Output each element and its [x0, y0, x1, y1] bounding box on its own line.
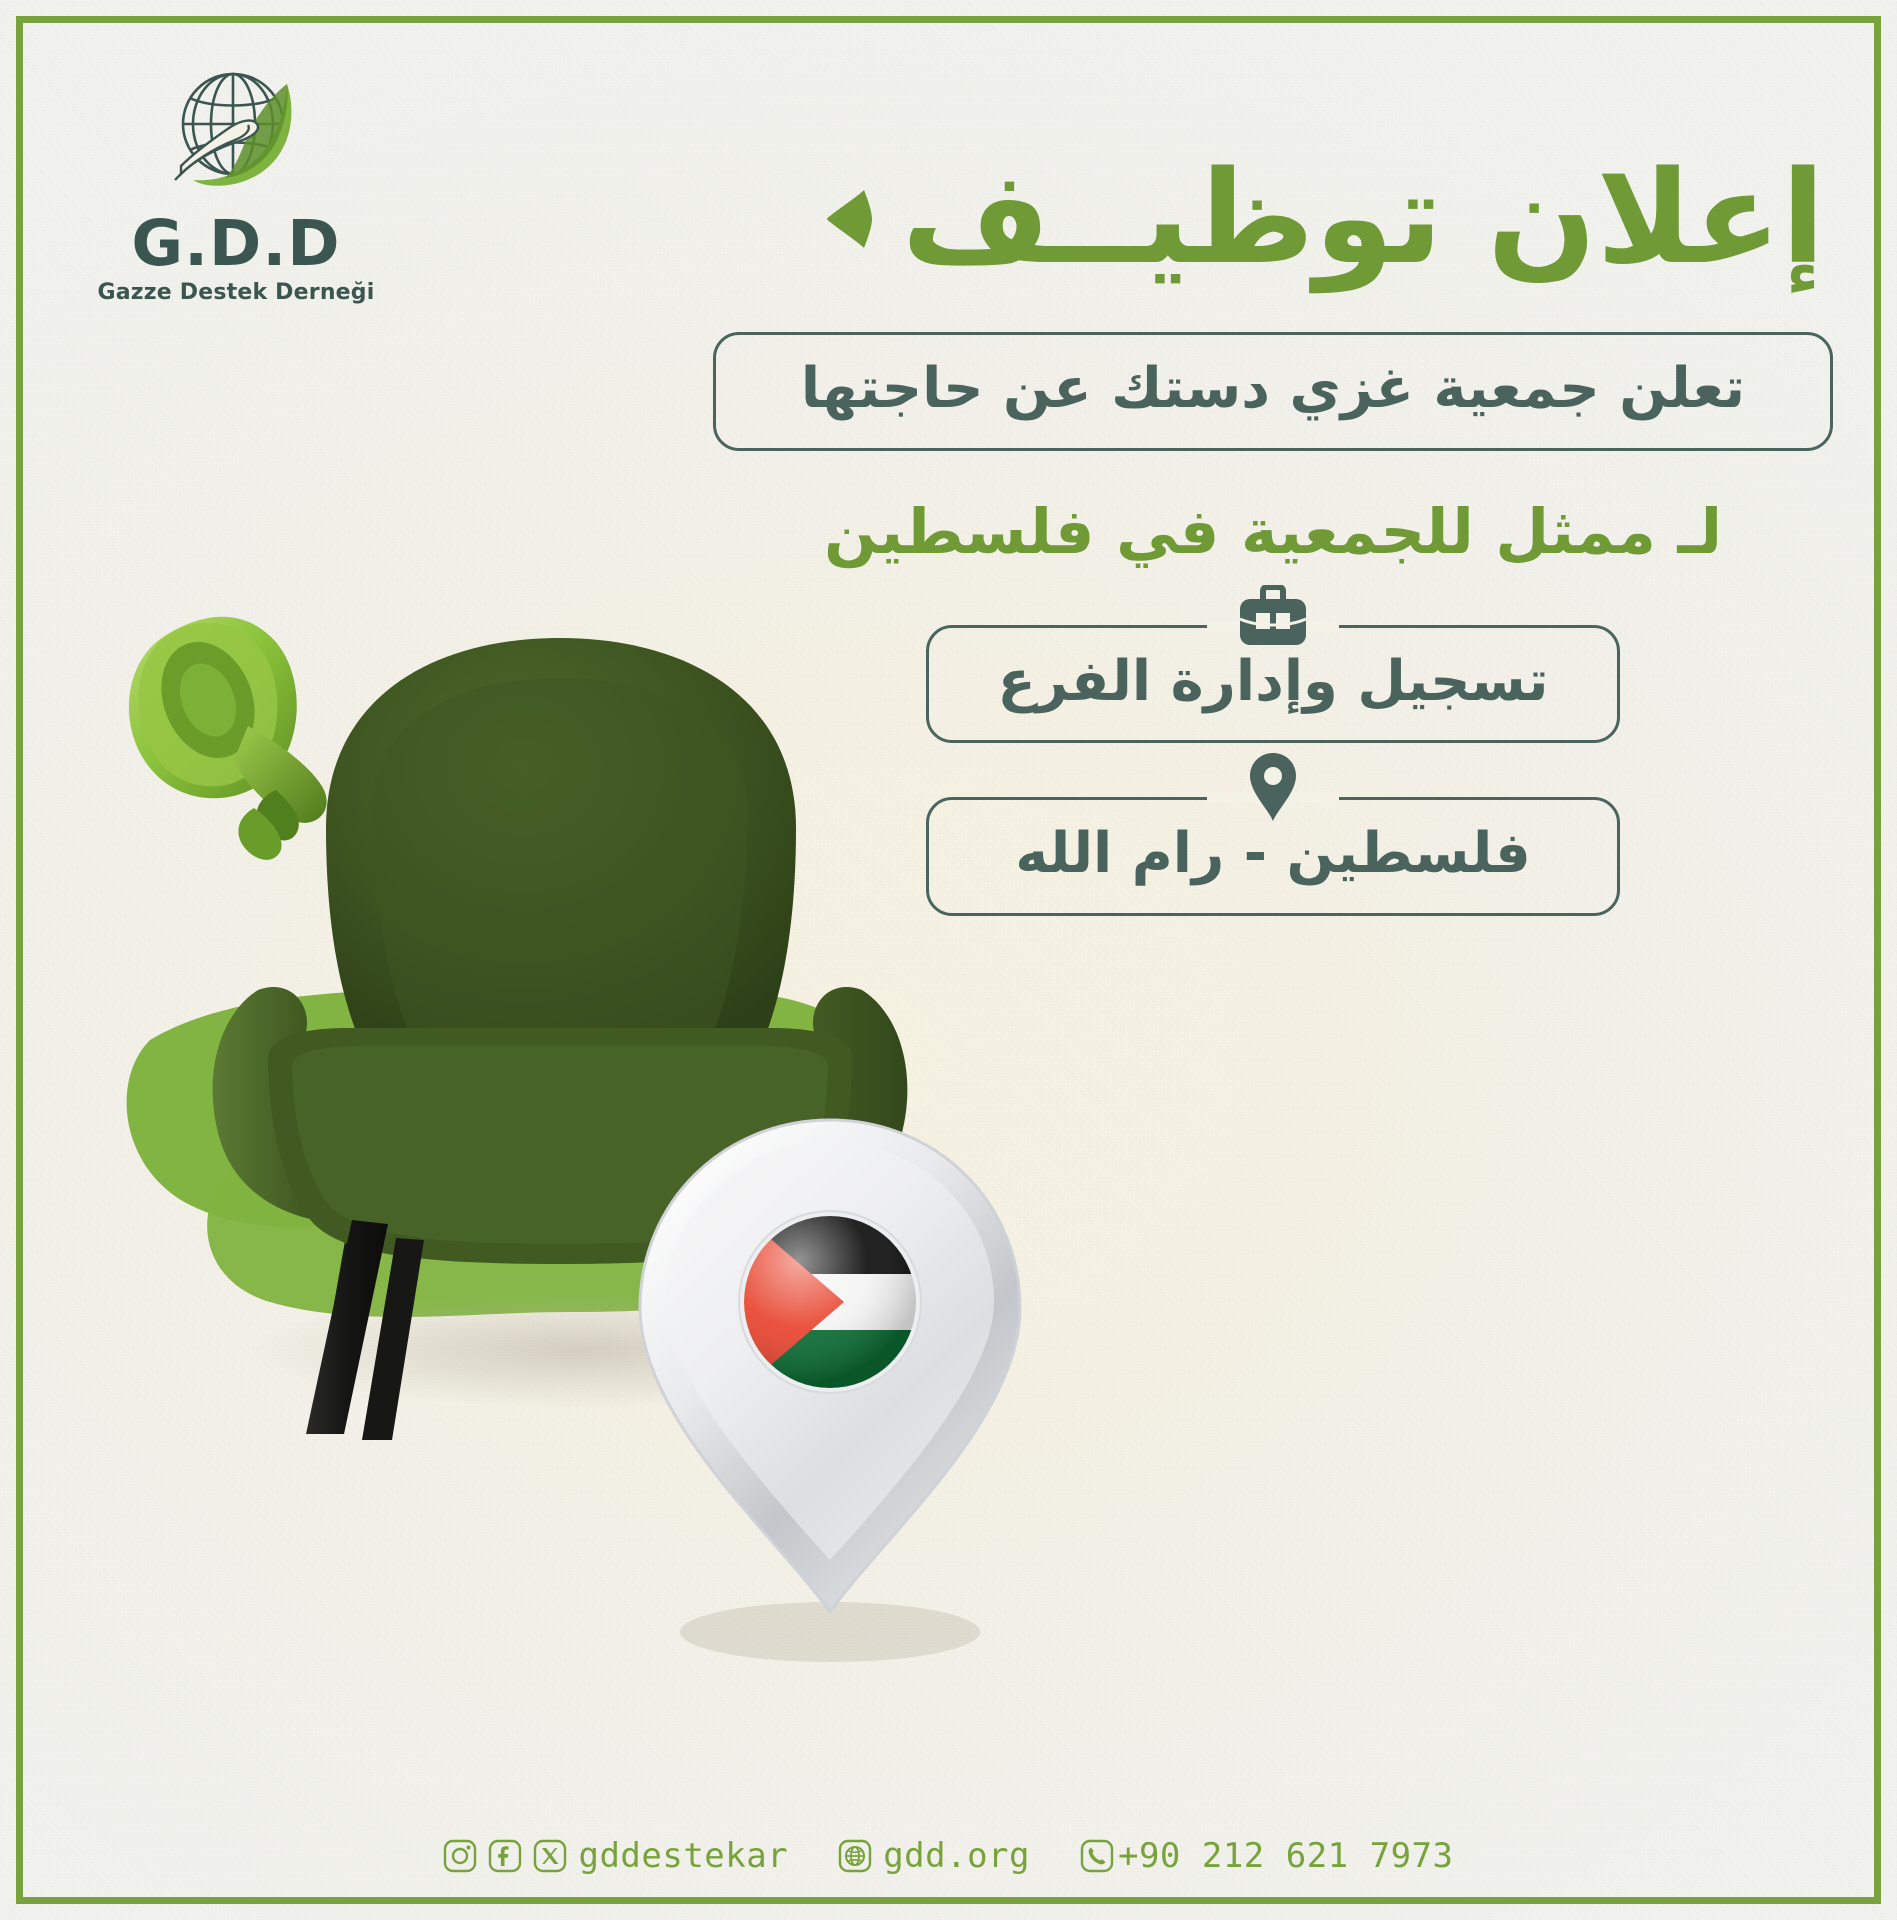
x-twitter-icon[interactable]: [533, 1839, 567, 1873]
globe-icon[interactable]: [838, 1839, 872, 1873]
department-text: تسجيل وإدارة الفرع: [963, 650, 1583, 714]
intro-text: تعلن جمعية غزي دستك عن حاجتها: [750, 357, 1796, 421]
website-group: gdd.org: [838, 1836, 1030, 1876]
palestine-flag-map-pin: [640, 1120, 1020, 1662]
content-column: إعلان توظيــف تعلن جمعية غزي دستك عن حاج…: [713, 150, 1833, 970]
map-pin-icon: [1224, 751, 1322, 823]
chevron-left-icon: [822, 186, 876, 252]
department-group: تسجيل وإدارة الفرع: [713, 625, 1833, 743]
social-handle: gddestekar: [578, 1836, 788, 1876]
phone-text: +90 212 621 7973: [1118, 1836, 1454, 1876]
location-text: فلسطين - رام الله: [963, 822, 1583, 886]
instagram-icon[interactable]: [443, 1839, 477, 1873]
phone-icon[interactable]: [1080, 1839, 1114, 1873]
megaphone-icon: [129, 617, 327, 860]
website-text: gdd.org: [883, 1836, 1030, 1876]
social-group: gddestekar: [443, 1836, 788, 1876]
page-title: إعلان توظيــف: [902, 150, 1825, 288]
logo-subtitle: Gazze Destek Derneği: [86, 280, 386, 305]
title-row: إعلان توظيــف: [713, 150, 1833, 288]
phone-group: +90 212 621 7973: [1080, 1836, 1454, 1876]
role-line: لـ ممثل للجمعية في فلسطين: [713, 495, 1833, 569]
globe-leaf-hand-logo: [141, 62, 331, 212]
footer-contact-bar: gddestekar gdd.org +90 212 621 7973: [0, 1836, 1897, 1876]
location-group: فلسطين - رام الله: [713, 797, 1833, 915]
intro-box: تعلن جمعية غزي دستك عن حاجتها: [713, 332, 1833, 450]
facebook-icon[interactable]: [488, 1839, 522, 1873]
briefcase-icon: [1214, 585, 1332, 649]
poster-canvas: G.D.D Gazze Destek Derneği إعلان توظيــف…: [0, 0, 1897, 1920]
brand-logo: G.D.D Gazze Destek Derneği: [86, 62, 386, 305]
logo-initials: G.D.D: [86, 214, 386, 274]
